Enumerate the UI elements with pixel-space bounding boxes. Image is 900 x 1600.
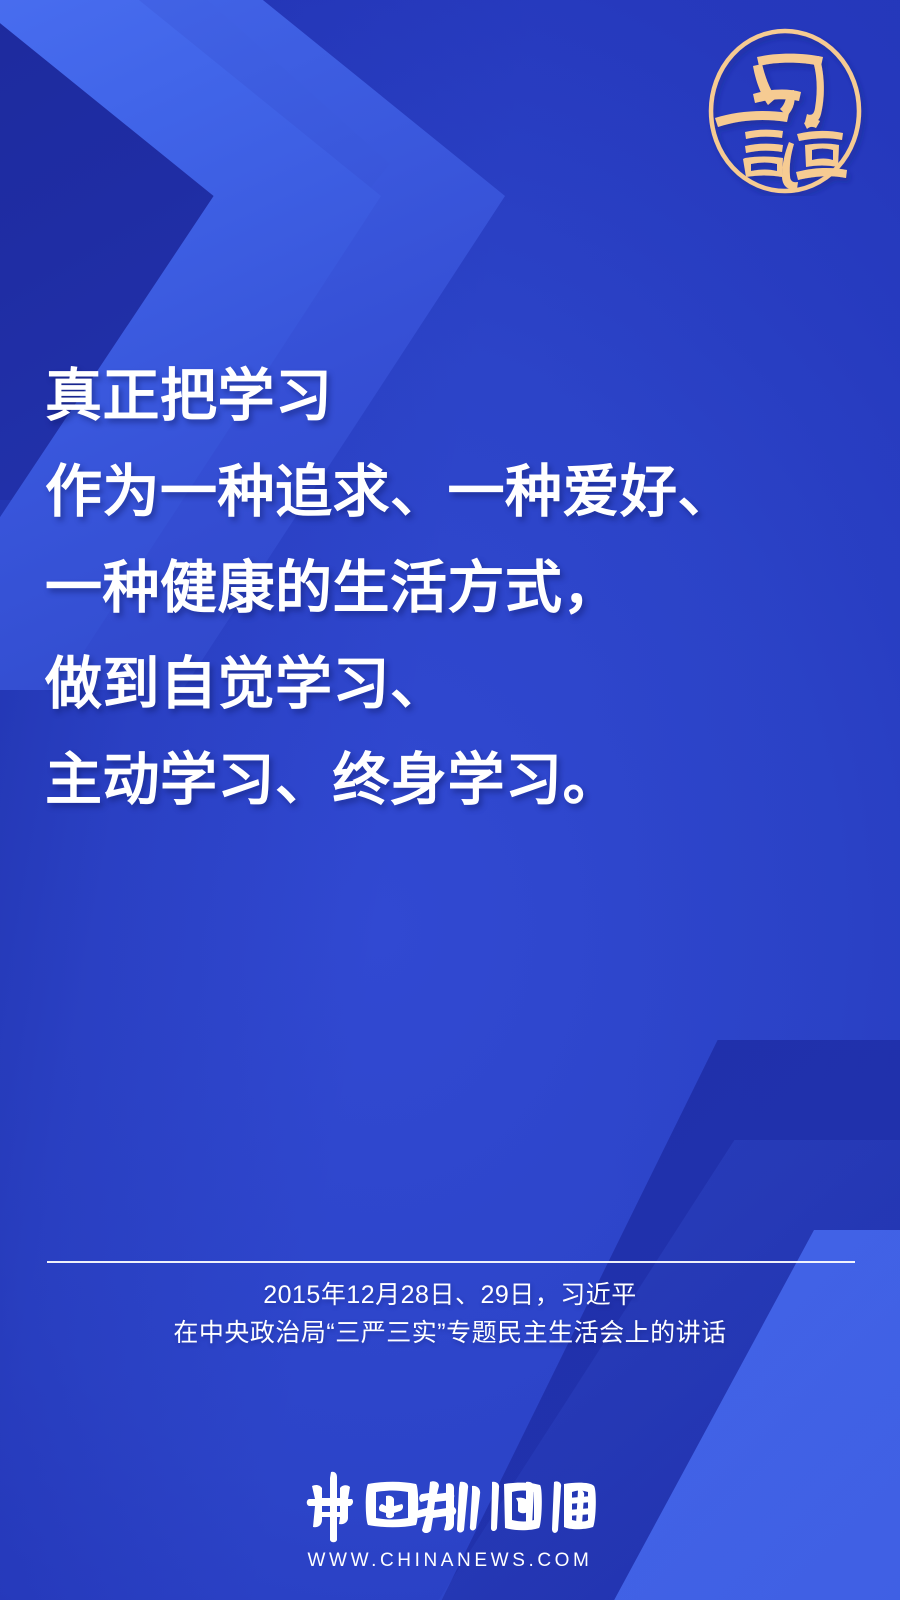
quote-line-3: 一种健康的生活方式， — [45, 540, 855, 636]
quote-line-2: 作为一种追求、一种爱好、 — [45, 444, 855, 540]
attribution-line-1: 2015年12月28日、29日，习近平 — [0, 1276, 900, 1314]
footer-brand: WWW.CHINANEWS.COM — [0, 1468, 900, 1572]
attribution-divider — [47, 1261, 855, 1263]
quote-line-4: 做到自觉学习、 — [45, 636, 855, 732]
quote-block: 真正把学习 作为一种追求、一种爱好、 一种健康的生活方式， 做到自觉学习、 主动… — [45, 348, 855, 828]
chinanews-url: WWW.CHINANEWS.COM — [0, 1550, 900, 1572]
attribution-line-2: 在中央政治局“三严三实”专题民主生活会上的讲话 — [0, 1314, 900, 1352]
xi-yan-dao-logo — [701, 26, 869, 196]
attribution-block: 2015年12月28日、29日，习近平 在中央政治局“三严三实”专题民主生活会上… — [0, 1276, 900, 1352]
quote-line-5: 主动学习、终身学习。 — [45, 732, 855, 828]
quote-line-1: 真正把学习 — [45, 348, 855, 444]
poster-canvas: 真正把学习 作为一种追求、一种爱好、 一种健康的生活方式， 做到自觉学习、 主动… — [0, 0, 900, 1600]
chinanews-logo — [300, 1468, 600, 1544]
